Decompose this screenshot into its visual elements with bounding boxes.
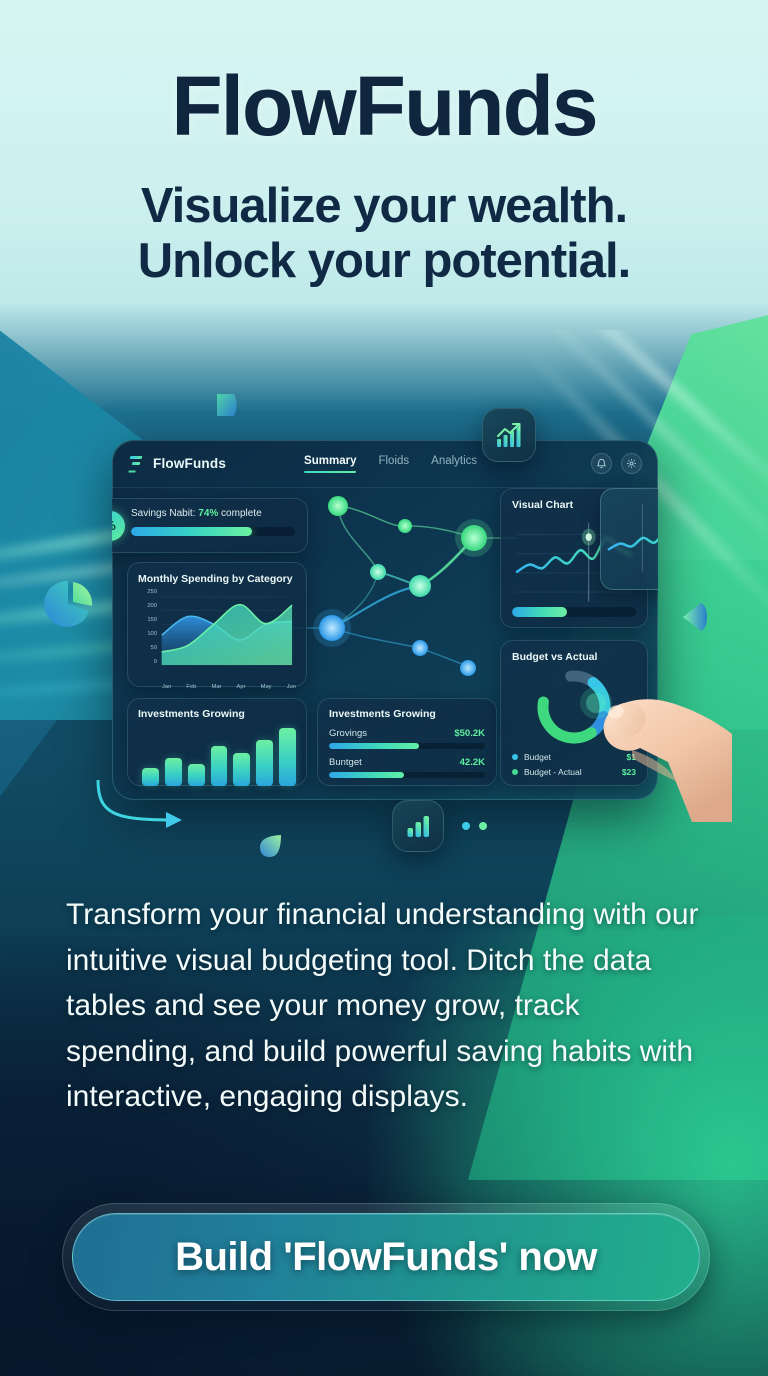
flag-icon xyxy=(214,392,240,428)
savings-habit-progress-fill xyxy=(131,527,252,536)
gear-icon xyxy=(626,458,637,469)
investments-bar xyxy=(233,753,250,786)
visual-chart-progress-fill xyxy=(512,607,567,617)
visual-chart-progress-track xyxy=(512,607,636,617)
tab-floids[interactable]: Floids xyxy=(378,455,409,473)
spending-y-tick: 50 xyxy=(138,646,160,660)
row-value-grovings: $50.2K xyxy=(454,728,485,739)
header: FlowFunds Visualize your wealth. Unlock … xyxy=(0,0,768,288)
savings-habit-label: Savings Nabit: 74% complete xyxy=(131,508,295,519)
app-logo-label: FlowFunds xyxy=(153,456,226,471)
settings-button[interactable] xyxy=(621,453,642,474)
row-progress-fill-grovings xyxy=(329,743,419,749)
pagination-dots xyxy=(462,822,487,830)
promo-page: FlowFunds Visualize your wealth. Unlock … xyxy=(0,0,768,1376)
dashboard-navbar: FlowFunds Summary Floids Analytics xyxy=(112,440,658,488)
dashboard-tabs: Summary Floids Analytics xyxy=(304,455,477,473)
legend-dot-budget-actual xyxy=(512,769,518,775)
trending-up-chart-icon xyxy=(494,420,524,450)
dot-2 xyxy=(479,822,487,830)
row-progress-fill-buntget xyxy=(329,772,404,778)
row-value-buntget: 42.2K xyxy=(460,757,485,768)
bar-chart-tile[interactable] xyxy=(392,800,444,852)
investments-list-title: Investments Growing xyxy=(329,708,485,720)
navbar-actions xyxy=(591,453,642,474)
dot-1 xyxy=(462,822,470,830)
percent-badge-icon: % xyxy=(112,511,125,541)
investments-row-grovings: Grovings $50.2K xyxy=(329,728,485,749)
savings-habit-prefix: Savings Nabit: xyxy=(131,508,198,519)
tagline: Visualize your wealth. Unlock your poten… xyxy=(0,179,768,289)
savings-habit-card: % Savings Nabit: 74% complete xyxy=(112,498,308,553)
spending-x-tick: Mar xyxy=(211,684,221,690)
cta-button-wrapper: Build 'FlowFunds' now xyxy=(62,1203,710,1311)
spending-x-tick: May xyxy=(261,684,272,690)
trending-up-tile[interactable] xyxy=(482,408,536,462)
curved-arrow-icon xyxy=(90,780,220,850)
build-flowfunds-button[interactable]: Build 'FlowFunds' now xyxy=(72,1213,700,1301)
investments-bar-chart xyxy=(138,728,296,786)
tagline-line-2: Unlock your potential. xyxy=(0,234,768,289)
leaf-icon xyxy=(258,832,284,860)
investments-bar xyxy=(256,740,273,786)
row-progress-track-grovings xyxy=(329,743,485,749)
investments-bar-card: Investments Growing xyxy=(127,698,307,786)
investments-row-buntget: Buntget 42.2K xyxy=(329,757,485,778)
investments-bar xyxy=(279,728,296,786)
bar-chart-icon xyxy=(404,812,432,840)
tagline-line-1: Visualize your wealth. xyxy=(0,179,768,234)
monthly-spending-chart: 250200150100500 JanFebMarAprMayJun xyxy=(138,593,296,677)
spending-y-tick: 150 xyxy=(138,618,160,632)
savings-habit-progress-track xyxy=(131,527,295,536)
play-triangle-icon xyxy=(681,600,711,634)
pie-chart-icon xyxy=(42,578,98,634)
legend-dot-budget xyxy=(512,754,518,760)
spending-x-tick: Apr xyxy=(237,684,246,690)
monthly-spending-card: Monthly Spending by Category xyxy=(127,562,307,687)
spending-x-tick: Jan xyxy=(162,684,171,690)
savings-habit-percent: 74% xyxy=(198,508,218,519)
spending-y-tick: 200 xyxy=(138,604,160,618)
network-graph-decoration xyxy=(292,480,522,690)
app-logo[interactable]: FlowFunds xyxy=(128,455,226,473)
investments-list-card: Investments Growing Grovings $50.2K Bunt… xyxy=(317,698,497,786)
spending-x-tick: Jun xyxy=(287,684,296,690)
tab-summary[interactable]: Summary xyxy=(304,455,356,473)
page-title: FlowFunds xyxy=(0,66,768,147)
body-copy: Transform your financial understanding w… xyxy=(66,892,716,1120)
notifications-button[interactable] xyxy=(591,453,612,474)
bell-icon xyxy=(596,458,607,469)
visual-chart-overlay-panel xyxy=(600,488,658,590)
legend-label-budget: Budget xyxy=(524,752,551,762)
savings-habit-suffix: complete xyxy=(218,508,261,519)
pointing-hand-illustration xyxy=(572,672,732,822)
spending-y-tick: 100 xyxy=(138,632,160,646)
monthly-spending-title: Monthly Spending by Category xyxy=(138,573,296,585)
tab-analytics[interactable]: Analytics xyxy=(431,455,477,473)
investments-bar-title: Investments Growing xyxy=(138,708,296,720)
flowfunds-logo-icon xyxy=(128,455,145,473)
row-label-buntget: Buntget xyxy=(329,757,362,768)
spending-y-tick: 250 xyxy=(138,590,160,604)
spending-y-tick: 0 xyxy=(138,660,160,674)
row-label-grovings: Grovings xyxy=(329,728,367,739)
row-progress-track-buntget xyxy=(329,772,485,778)
spending-x-tick: Feb xyxy=(186,684,196,690)
